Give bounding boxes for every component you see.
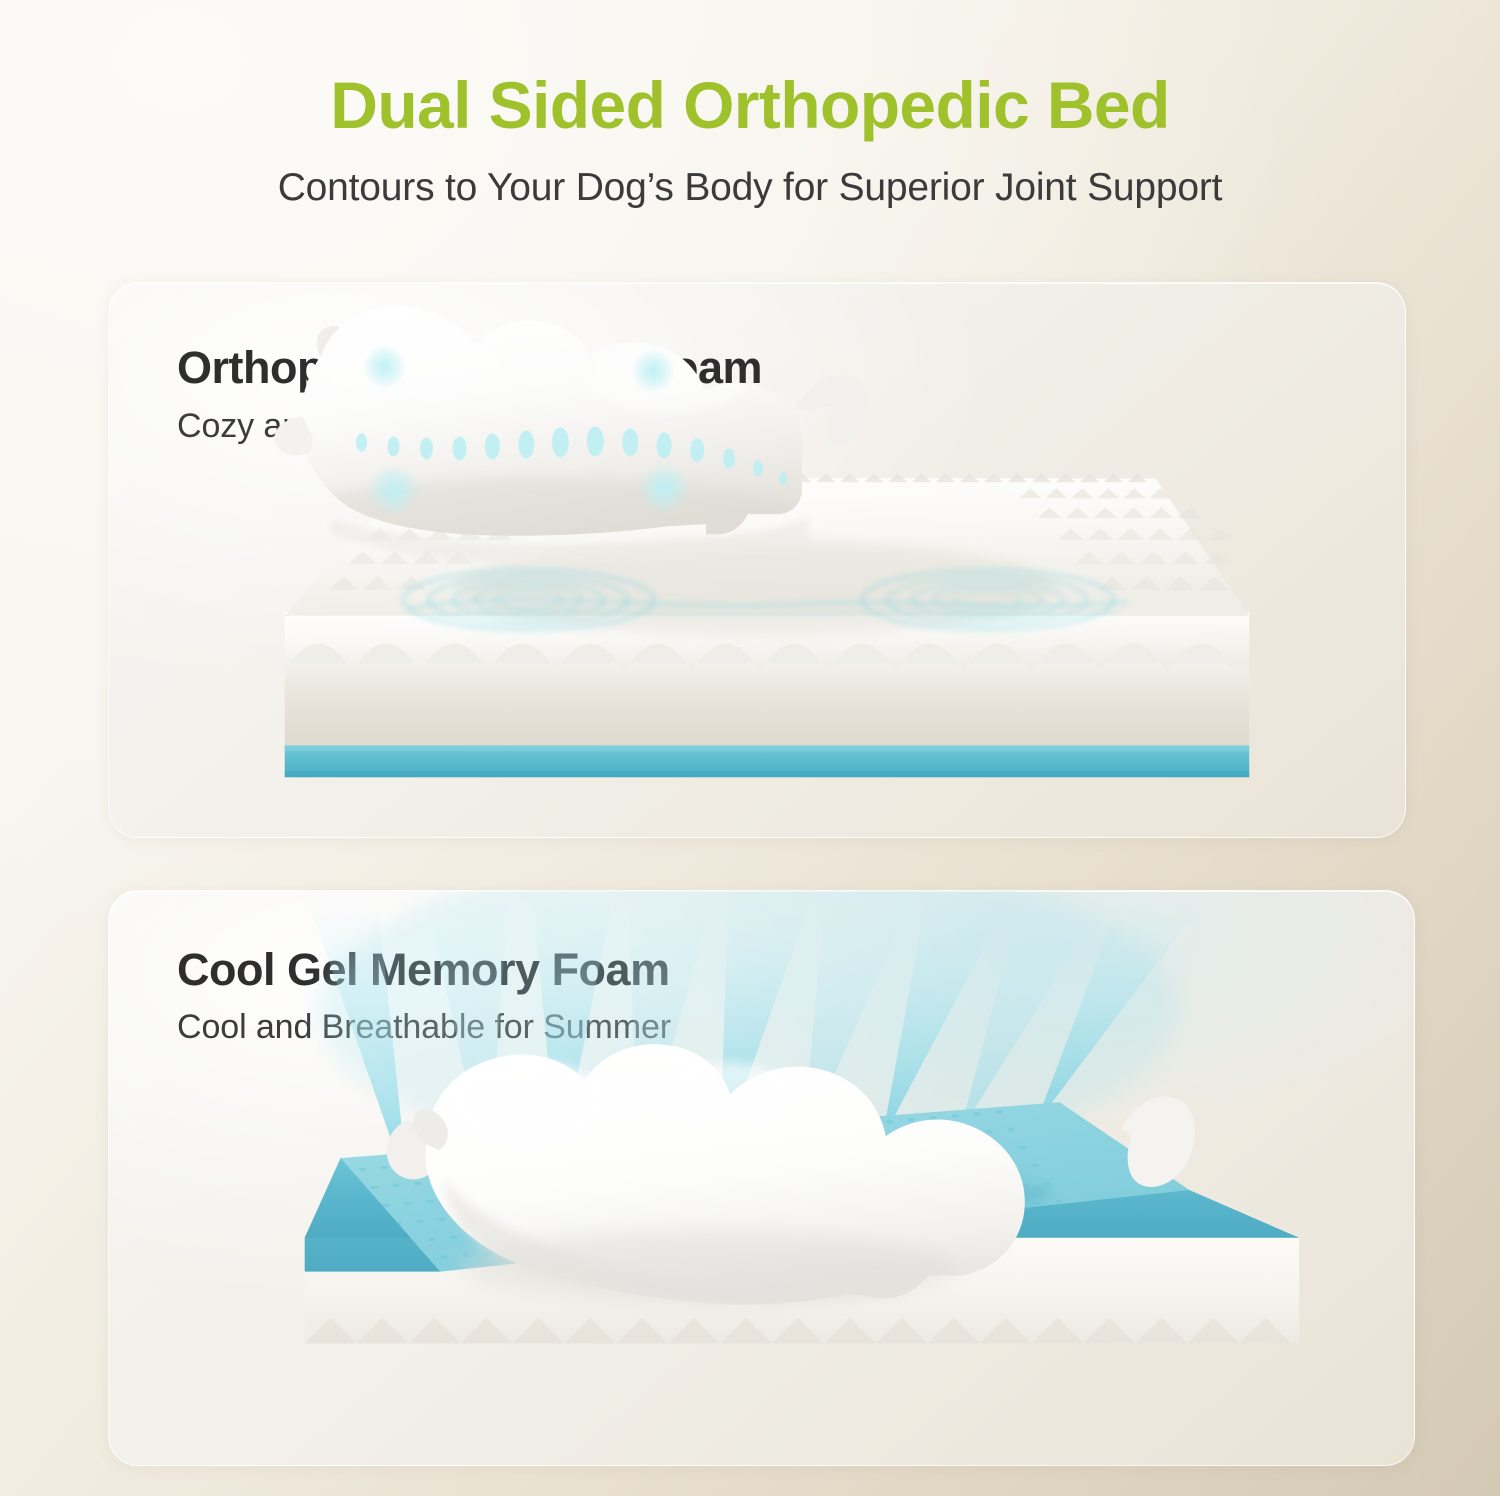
foam-front-face (285, 664, 1250, 746)
base-foam-layer (305, 1238, 1299, 1465)
header: Dual Sided Orthopedic Bed Contours to Yo… (0, 0, 1500, 210)
card-subheading: Cool and Breathable for Summer (177, 1008, 671, 1047)
page-subtitle: Contours to Your Dog’s Body for Superior… (0, 167, 1500, 210)
card-heading: Cool Gel Memory Foam (177, 944, 670, 996)
foam-mattress (285, 473, 1250, 777)
gel-foam-slab (305, 1102, 1299, 1271)
gel-dot-texture (359, 1110, 1063, 1260)
egg-crate-texture (329, 473, 1234, 590)
card-subheading: Cozy and Warm for Spring, Fall, & Winter (177, 407, 795, 446)
page-title: Dual Sided Orthopedic Bed (0, 70, 1500, 141)
foam-top-surface (285, 473, 1250, 635)
dog-figure (387, 1044, 1195, 1304)
feature-card-cool-gel-foam: Cool Gel Memory Foam Cool and Breathable… (108, 890, 1415, 1466)
base-layer-strip (285, 745, 1250, 777)
ripple-rings (403, 570, 1128, 630)
card-heading: Orthopedic Egg Crate Foam (177, 342, 762, 394)
feature-card-egg-crate-foam: Orthopedic Egg Crate Foam Cozy and Warm … (108, 282, 1406, 838)
infographic-page: Dual Sided Orthopedic Bed Contours to Yo… (0, 0, 1500, 1496)
egg-crate-wave-edge (285, 612, 1250, 674)
